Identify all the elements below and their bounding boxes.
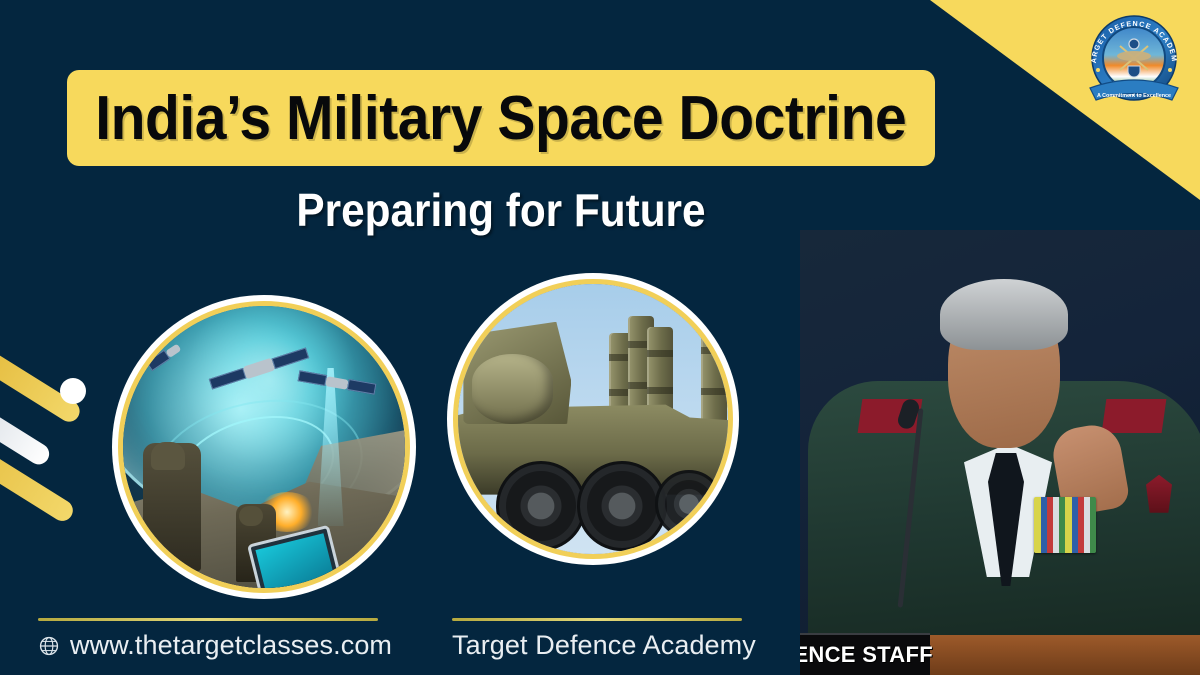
missile-launcher-illustration xyxy=(458,284,728,554)
footer-divider-rule xyxy=(38,618,378,621)
rank-gorget-patch-right xyxy=(1102,399,1167,433)
space-battlefield-illustration xyxy=(123,306,405,588)
title-banner: India’s Military Space Doctrine xyxy=(67,70,935,166)
diagonal-bars-decoration xyxy=(0,330,122,500)
footer: www.thetargetclasses.com Target Defence … xyxy=(0,597,1200,675)
footer-academy-name: Target Defence Academy xyxy=(452,630,756,661)
poster-canvas: TARGET DEFENCE ACADEMY LUCKNOW A Commitm… xyxy=(0,0,1200,675)
page-subtitle: Preparing for Future xyxy=(102,183,901,237)
footer-website-block: www.thetargetclasses.com xyxy=(38,618,392,661)
footer-website-text[interactable]: www.thetargetclasses.com xyxy=(70,630,392,661)
footer-academy-block: Target Defence Academy xyxy=(452,618,756,661)
image-circle-missile-launcher xyxy=(458,284,728,554)
footer-divider-rule xyxy=(452,618,742,621)
medal-ribbons xyxy=(1034,497,1096,553)
decorative-dot xyxy=(60,378,86,404)
page-title: India’s Military Space Doctrine xyxy=(96,83,907,154)
logo-ribbon-text: A Commitment to Excellence xyxy=(1097,93,1171,99)
image-circle-space-battlefield xyxy=(123,306,405,588)
globe-icon xyxy=(38,635,60,657)
academy-logo: TARGET DEFENCE ACADEMY LUCKNOW A Commitm… xyxy=(1082,8,1186,112)
